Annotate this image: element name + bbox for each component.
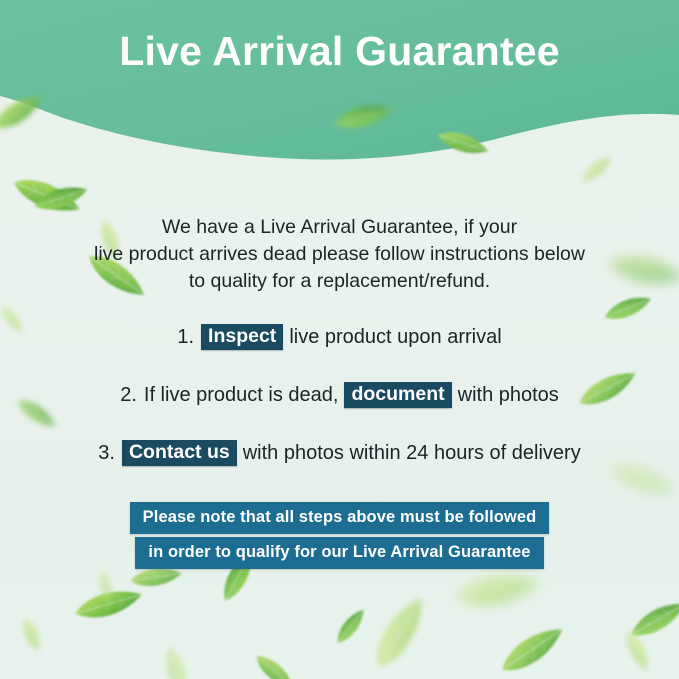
notice-bar-1: Please note that all steps above must be… [130,502,550,534]
step-item-3: 3. Contact us with photos within 24 hour… [0,436,679,470]
poster-content: We have a Live Arrival Guarantee, if you… [0,0,679,679]
steps-list: 1. Inspect live product upon arrival 2. … [0,320,679,494]
step-text-2-after: with photos [458,384,559,407]
intro-line-2: live product arrives dead please follow … [60,241,619,268]
notice-bar-2: in order to qualify for our Live Arrival… [135,537,543,569]
live-arrival-guarantee-poster: Live Arrival Guarantee [0,0,679,679]
step-text-1-after: live product upon arrival [289,326,501,349]
step-item-2: 2. If live product is dead, document wit… [0,378,679,412]
step-item-1: 1. Inspect live product upon arrival [0,320,679,354]
step-number-3: 3. [98,442,115,465]
step-number-2: 2. [120,384,137,407]
intro-line-3: to quality for a replacement/refund. [60,268,619,295]
intro-paragraph: We have a Live Arrival Guarantee, if you… [60,214,619,295]
step-highlight-contact-us: Contact us [122,440,237,467]
intro-line-1: We have a Live Arrival Guarantee, if you… [60,214,619,241]
step-highlight-inspect: Inspect [201,324,283,351]
step-text-3-after: with photos within 24 hours of delivery [243,442,581,465]
notice-row-2: in order to qualify for our Live Arrival… [0,537,679,569]
step-number-1: 1. [177,326,194,349]
step-text-2-before: If live product is dead, [144,384,339,407]
step-highlight-document: document [344,382,451,409]
notice-row-1: Please note that all steps above must be… [0,502,679,534]
